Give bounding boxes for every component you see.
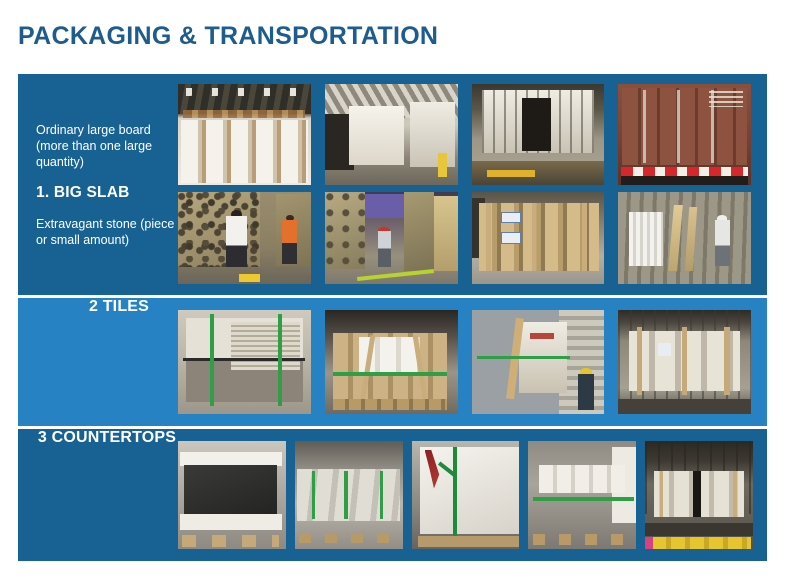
big-slab-title: 1. BIG SLAB <box>36 184 178 202</box>
photo-tile-bundle-green-straps[interactable] <box>178 310 311 414</box>
countertops-photo-grid <box>178 429 767 561</box>
big-slab-note-top: Ordinary large board (more than one larg… <box>36 122 178 170</box>
section-big-slab-label: Ordinary large board (more than one larg… <box>18 74 178 295</box>
photo-grey-countertops-strapped[interactable] <box>295 441 403 549</box>
page-title: PACKAGING & TRANSPORTATION <box>18 22 438 51</box>
tiles-title: 2 TILES <box>89 298 149 316</box>
tiles-photo-grid <box>178 298 767 426</box>
photo-black-countertop-on-pallet[interactable] <box>178 441 286 549</box>
photo-worker-loading-crate-in-container[interactable] <box>618 192 751 284</box>
countertops-title: 3 COUNTERTOPS <box>38 429 176 447</box>
big-slab-row-1 <box>178 84 751 185</box>
photo-tile-crate-on-pallet[interactable] <box>325 310 458 414</box>
big-slab-row-2 <box>178 192 751 284</box>
section-tiles-label: 2 TILES <box>18 298 178 426</box>
photo-slabs-inside-open-container[interactable] <box>472 84 605 185</box>
photo-wooden-a-frame-crates[interactable] <box>472 192 605 284</box>
photo-warehouse-wrapped-slab-bundles[interactable] <box>178 84 311 185</box>
packaging-sections-panel: Ordinary large board (more than one larg… <box>18 74 767 561</box>
photo-slabs-loading-into-truck[interactable] <box>325 84 458 185</box>
section-countertops-label: 3 COUNTERTOPS <box>18 429 178 561</box>
photo-sealed-container-rear-doors[interactable] <box>618 84 751 185</box>
section-big-slab: Ordinary large board (more than one larg… <box>18 74 767 295</box>
photo-workers-inspecting-granite-slab[interactable] <box>178 192 311 284</box>
photo-wrapped-countertop-bundle[interactable] <box>412 441 520 549</box>
big-slab-note-bottom: Extravagant stone (piece or small amount… <box>36 216 178 248</box>
photo-tile-crate-loading[interactable] <box>472 310 605 414</box>
photo-worker-between-slab-bundles[interactable] <box>325 192 458 284</box>
section-countertops: 3 COUNTERTOPS <box>18 429 767 561</box>
big-slab-photo-grid <box>178 74 767 295</box>
photo-countertop-crates-in-container[interactable] <box>645 441 753 549</box>
photo-countertop-crates-stacked[interactable] <box>528 441 636 549</box>
section-tiles: 2 TILES <box>18 298 767 426</box>
photo-tile-crates-in-container[interactable] <box>618 310 751 414</box>
